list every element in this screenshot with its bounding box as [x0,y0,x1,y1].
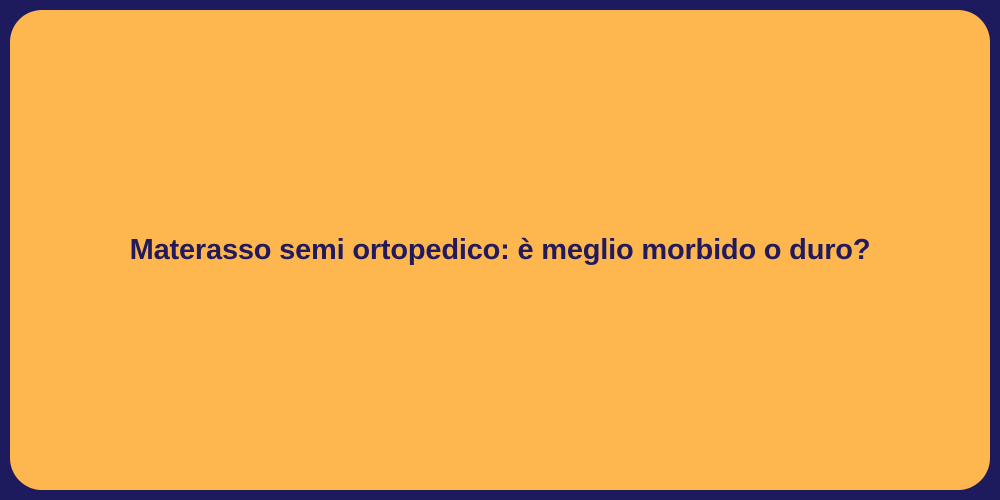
article-banner: Materasso semi ortopedico: è meglio morb… [0,0,1000,500]
banner-card: Materasso semi ortopedico: è meglio morb… [10,10,990,490]
page-title: Materasso semi ortopedico: è meglio morb… [90,232,911,268]
